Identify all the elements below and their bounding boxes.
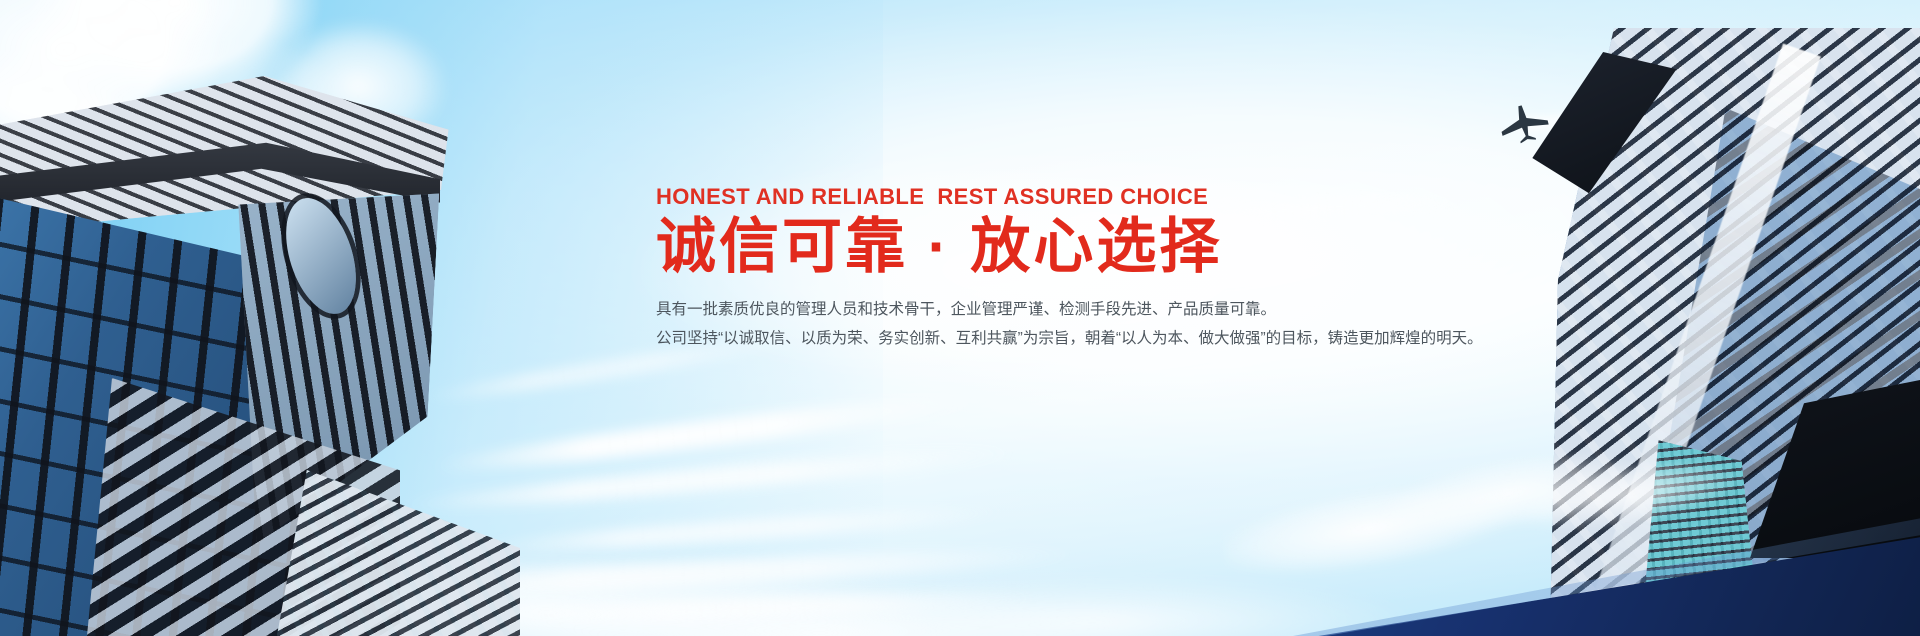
banner-description-line-1: 具有一批素质优良的管理人员和技术骨干，企业管理严谨、检测手段先进、产品质量可靠。 xyxy=(656,296,1376,325)
glass-office-tower-left xyxy=(0,78,500,636)
banner-headline: 诚信可靠 · 放心选择 xyxy=(656,216,1376,278)
banner-description-line-2: 公司坚持“以诚取信、以质为荣、务实创新、互利共赢”为宗旨，朝着“以人为本、做大做… xyxy=(656,325,1376,354)
banner-copy: HONEST AND RELIABLE REST ASSURED CHOICE … xyxy=(656,186,1376,354)
hero-banner: HONEST AND RELIABLE REST ASSURED CHOICE … xyxy=(0,0,1920,636)
banner-description: 具有一批素质优良的管理人员和技术骨干，企业管理严谨、检测手段先进、产品质量可靠。… xyxy=(656,296,1376,353)
banner-eyebrow: HONEST AND RELIABLE REST ASSURED CHOICE xyxy=(656,186,1376,208)
